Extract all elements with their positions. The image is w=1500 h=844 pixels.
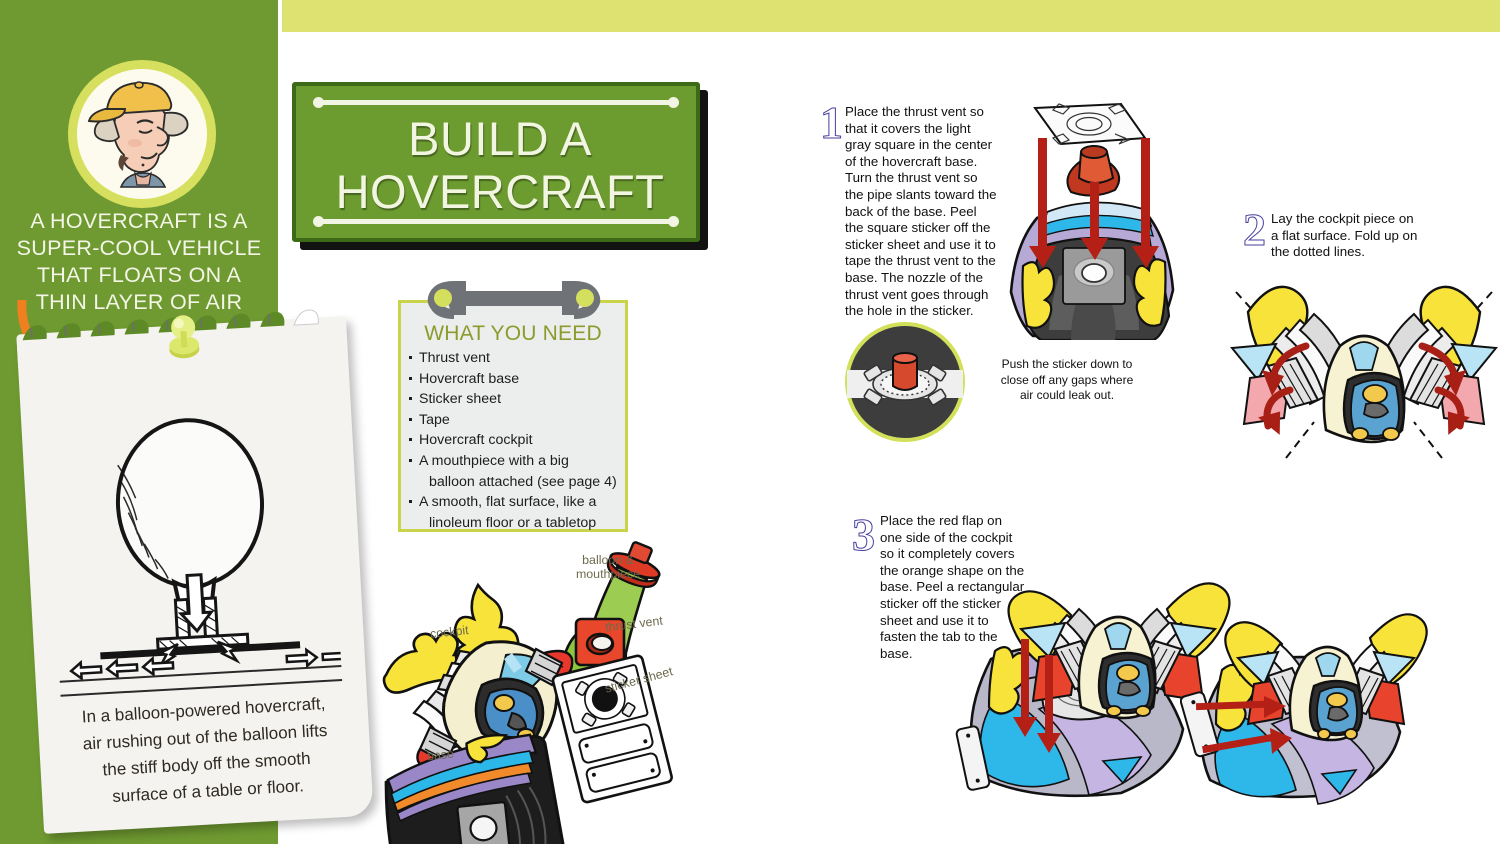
part-label-balloon: balloon & mouthpiece [568,553,648,581]
boy-cartoon-face-icon [77,69,207,199]
part-label-balloon-line-1: balloon & [568,553,648,567]
wrench-icon [424,277,604,319]
hovercraft-base-with-thrust-vent-arrows-icon [985,100,1200,340]
list-item: Hovercraft cockpit [408,430,624,451]
circle-caption-line-1: Push the sticker down to [972,357,1162,373]
spread-page: A HOVERCRAFT IS A SUPER-COOL VEHICLE THA… [0,0,1500,844]
list-item: Hovercraft base [408,369,624,390]
list-item-continuation: balloon attached (see page 4) [408,472,624,493]
step-3-number: 3 [852,512,875,558]
part-label-base: base [426,747,454,764]
page-title-line-1: BUILD A [296,112,704,165]
tagline-line-3: THAT FLOATS ON A [8,262,270,289]
mascot-inner-circle [77,69,207,199]
list-item: A mouthpiece with a big [408,451,624,472]
circle-caption-line-3: air could leak out. [972,388,1162,404]
push-pin-icon [159,302,208,362]
plaque-dot-tl [313,97,324,108]
notepad: In a balloon-powered hovercraft, air rus… [16,316,373,834]
notepad-caption: In a balloon-powered hovercraft, air rus… [67,689,345,812]
plaque-dot-tr [668,97,679,108]
plaque-bar-top [318,100,676,105]
hovercraft-base-part-icon [380,729,567,844]
list-item: A smooth, flat surface, like a [408,492,624,513]
step-2-text: Lay the cockpit piece on a flat surface.… [1271,211,1423,261]
page-title-line-2: HOVERCRAFT [296,165,704,218]
page-title: BUILD A HOVERCRAFT [296,112,704,218]
step-1-number: 1 [820,100,843,146]
mascot [68,60,216,208]
cockpit-fold-up-arrows-icon [1228,262,1500,477]
step-1-numeral: 1 [820,97,843,148]
step-3-numeral: 3 [852,509,875,560]
circle-inset-caption: Push the sticker down to close off any g… [972,357,1162,404]
balloon-on-stand-diagram-icon [46,377,342,682]
tagline-line-2: SUPER-COOL VEHICLE [8,235,270,262]
title-plaque: BUILD A HOVERCRAFT [292,82,700,242]
list-item: Thrust vent [408,348,624,369]
step-2-numeral: 2 [1243,204,1266,255]
part-label-balloon-line-2: mouthpiece [568,567,648,581]
list-item: Sticker sheet [408,389,624,410]
sticker-fasten-tab-icon [1180,598,1440,828]
step-1-text: Place the thrust vent so that it covers … [845,104,997,320]
list-item: Tape [408,410,624,431]
step-2-number: 2 [1243,207,1266,253]
plaque-bar-bottom [318,219,676,224]
tagline-line-1: A HOVERCRAFT IS A [8,208,270,235]
what-you-need-heading: WHAT YOU NEED [398,322,628,346]
thrust-vent-sticker-closeup-icon [845,322,965,442]
what-you-need-list: Thrust vent Hovercraft base Sticker shee… [408,348,624,533]
circle-caption-line-2: close off any gaps where [972,373,1162,389]
top-lime-band [282,0,1500,32]
